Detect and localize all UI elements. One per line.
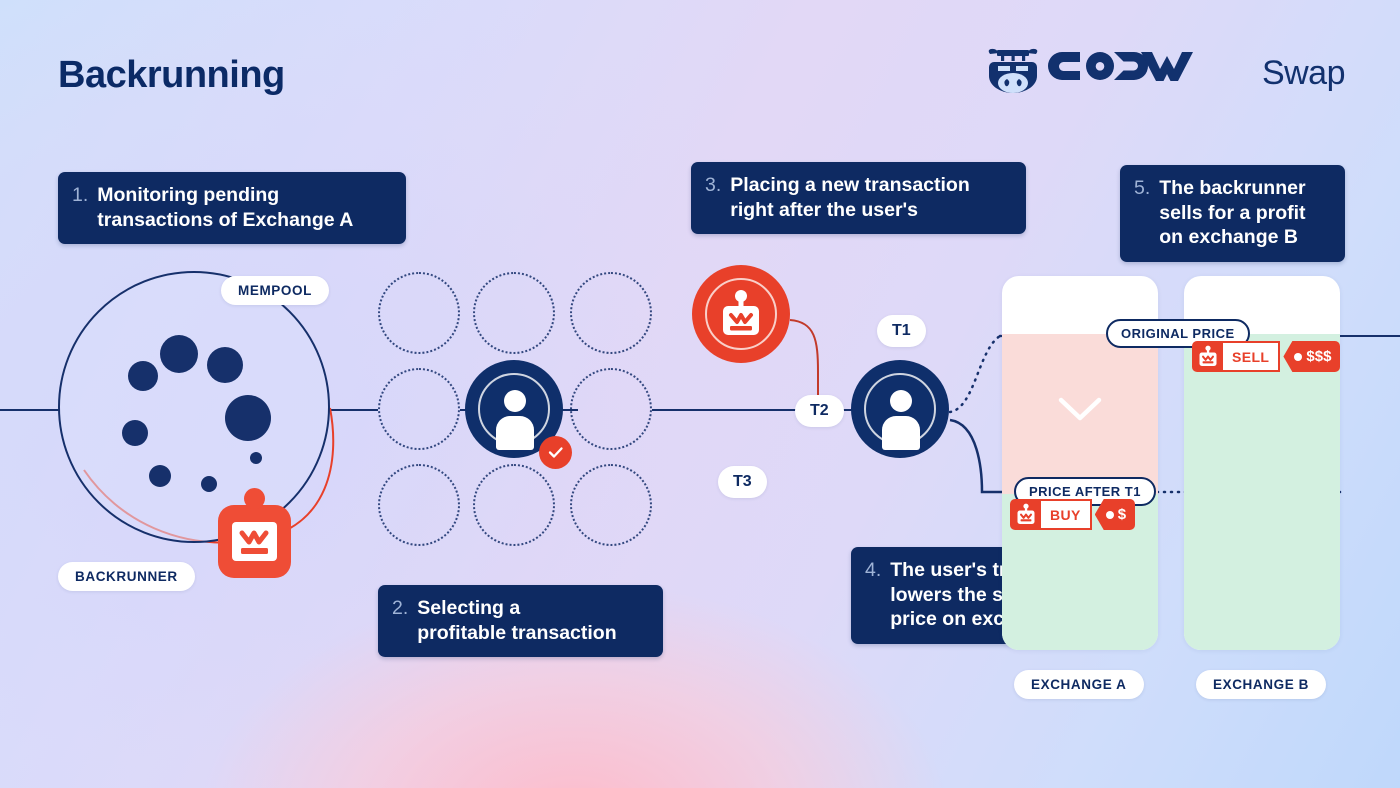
user-transaction-avatar[interactable] bbox=[851, 360, 949, 458]
buy-amount-tag: $ bbox=[1095, 499, 1135, 530]
pending-slot bbox=[378, 368, 460, 450]
logo-suffix: Swap bbox=[1262, 54, 1345, 93]
pending-slot bbox=[378, 272, 460, 354]
robot-icon bbox=[1192, 341, 1223, 372]
step-1-text: Monitoring pending transactions of Excha… bbox=[97, 183, 353, 232]
pending-slot bbox=[473, 272, 555, 354]
sell-amount-tag: $$$ bbox=[1283, 341, 1340, 372]
backrunner-transaction-node[interactable] bbox=[692, 265, 790, 363]
pending-slot bbox=[570, 368, 652, 450]
t1-label: T1 bbox=[877, 315, 926, 347]
diagram-canvas: Backrunning bbox=[0, 0, 1400, 788]
t3-label: T3 bbox=[718, 466, 767, 498]
pending-slot bbox=[570, 464, 652, 546]
pending-slot bbox=[473, 464, 555, 546]
sell-action-label: SELL bbox=[1223, 341, 1280, 372]
cow-head-icon bbox=[987, 48, 1039, 99]
step-4-number: 4. bbox=[865, 558, 881, 583]
chevron-down-icon bbox=[1055, 394, 1105, 429]
buy-amount: $ bbox=[1118, 506, 1126, 523]
step-3-number: 3. bbox=[705, 173, 721, 198]
step-2-callout: 2. Selecting a profitable transaction bbox=[378, 585, 663, 657]
step-5-number: 5. bbox=[1134, 176, 1150, 201]
buy-price-tag: BUY $ bbox=[1010, 499, 1135, 530]
sell-price-tag: SELL $$$ bbox=[1192, 341, 1340, 372]
step-3-callout: 3. Placing a new transaction right after… bbox=[691, 162, 1026, 234]
logo-brand bbox=[1048, 49, 1253, 99]
exchange-b-label: EXCHANGE B bbox=[1196, 670, 1326, 699]
pending-slot bbox=[378, 464, 460, 546]
step-5-text: The backrunner sells for a profit on exc… bbox=[1159, 176, 1305, 250]
step-2-text: Selecting a profitable transaction bbox=[417, 596, 616, 645]
backrunner-label: BACKRUNNER bbox=[58, 562, 195, 591]
step-5-callout: 5. The backrunner sells for a profit on … bbox=[1120, 165, 1345, 262]
mempool-circle bbox=[58, 271, 330, 543]
exchange-a-label: EXCHANGE A bbox=[1014, 670, 1144, 699]
step-1-number: 1. bbox=[72, 183, 88, 208]
buy-action-label: BUY bbox=[1041, 499, 1092, 530]
check-icon bbox=[539, 436, 572, 469]
mempool-label: MEMPOOL bbox=[221, 276, 329, 305]
backrunner-robot-icon bbox=[218, 505, 291, 578]
cowswap-logo: Swap bbox=[987, 48, 1345, 99]
robot-icon bbox=[1010, 499, 1041, 530]
step-2-number: 2. bbox=[392, 596, 408, 621]
t2-label: T2 bbox=[795, 395, 844, 427]
step-3-text: Placing a new transaction right after th… bbox=[730, 173, 969, 222]
sell-amount: $$$ bbox=[1306, 348, 1331, 365]
pending-slot bbox=[570, 272, 652, 354]
step-1-callout: 1. Monitoring pending transactions of Ex… bbox=[58, 172, 406, 244]
page-title: Backrunning bbox=[58, 54, 285, 97]
